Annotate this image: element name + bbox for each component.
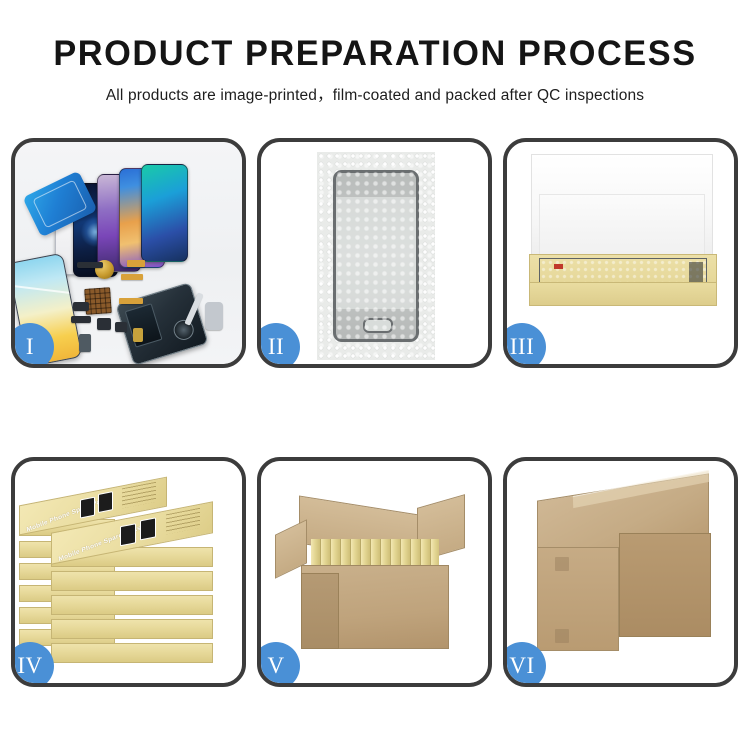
process-step-grid: I II III [11, 138, 739, 687]
wrapped-screen-icon [333, 170, 419, 342]
step-3-image [507, 142, 734, 364]
box-phone-image [120, 523, 136, 546]
box-phone-image [98, 491, 113, 513]
carton-tab-icon [555, 557, 569, 571]
sim-tray-icon [133, 328, 143, 342]
home-button-icon [363, 318, 393, 333]
sealed-carton-front-face [537, 547, 619, 651]
red-label-icon [554, 264, 563, 269]
battery-icon [79, 334, 91, 352]
process-step-panel-6[interactable]: VI [503, 457, 738, 687]
step-2-image [261, 142, 488, 364]
flex-cable-icon [119, 298, 143, 304]
carton-tab-icon [555, 629, 569, 643]
process-step-panel-4[interactable]: Mobile Phone Spare Parts Mobile Phone Sp… [11, 457, 246, 687]
box-stack: Mobile Phone Spare Parts Mobile Phone Sp… [15, 461, 242, 683]
step-badge-4: IV [11, 642, 54, 687]
step-badge-2: II [257, 323, 300, 368]
page-subtitle: All products are image-printed，film-coat… [0, 71, 750, 105]
process-step-panel-5[interactable]: V [257, 457, 492, 687]
tool-icon [205, 302, 223, 330]
box-tray-front-icon [529, 282, 717, 306]
sealed-carton-right-face [619, 533, 711, 637]
process-step-panel-1[interactable]: I [11, 138, 246, 368]
step-badge-6: VI [503, 642, 546, 687]
step-badge-1: I [11, 323, 54, 368]
speaker-module-icon [115, 322, 127, 332]
stacked-box [51, 595, 213, 615]
box-spec-lines [166, 508, 200, 535]
chip-array-icon [84, 287, 112, 315]
stacked-box [51, 643, 213, 663]
camera-module-icon [97, 318, 111, 330]
carton-left-face [301, 573, 339, 649]
stacked-box [51, 571, 213, 591]
spare-part-icon [71, 316, 91, 323]
box-spec-lines [122, 482, 156, 509]
step-6-image [507, 461, 734, 683]
flex-cable-icon [127, 260, 145, 267]
step-badge-5: V [257, 642, 300, 687]
bubble-wrap-sheet [317, 152, 435, 360]
page-title: PRODUCT PREPARATION PROCESS [8, 0, 743, 71]
stacked-box [51, 619, 213, 639]
process-step-panel-3[interactable]: III [503, 138, 738, 368]
step-badge-3: III [503, 323, 546, 368]
flex-cable-icon [121, 274, 143, 280]
box-back-wall-icon [539, 194, 705, 260]
step-1-image [15, 142, 242, 364]
box-phone-image [140, 517, 156, 540]
step-4-image: Mobile Phone Spare Parts Mobile Phone Sp… [15, 461, 242, 683]
spare-part-icon [77, 262, 103, 268]
spare-part-icon [73, 302, 89, 311]
box-phone-image [80, 497, 95, 519]
phone-teal-wallpaper-icon [141, 164, 188, 262]
step-5-image [261, 461, 488, 683]
page-header: PRODUCT PREPARATION PROCESS All products… [0, 0, 750, 105]
process-step-panel-2[interactable]: II [257, 138, 492, 368]
